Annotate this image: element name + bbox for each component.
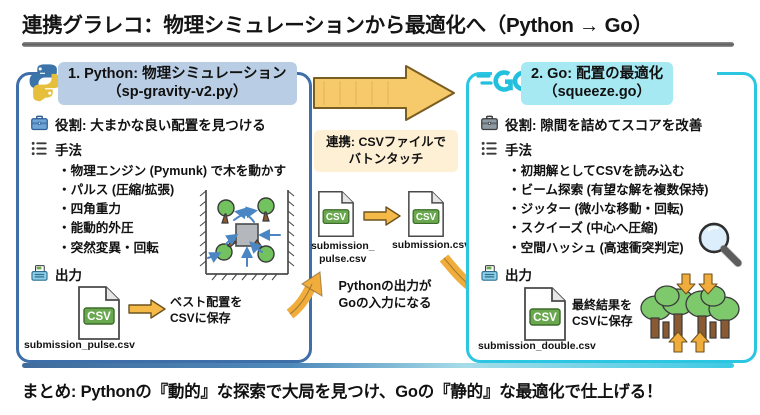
python-output-filename: submission_pulse.csv — [24, 340, 135, 351]
go-role-label: 役割: 隙間を詰めてスコアを改善 — [505, 114, 702, 134]
python-method-row: 手法 — [30, 139, 82, 159]
go-header-line2: （squeeze.go） — [531, 83, 663, 101]
list-item: ・初期解としてCSVを読み込む — [508, 162, 708, 181]
list-icon — [30, 139, 49, 158]
python-save-arrow-icon — [128, 298, 166, 320]
list-item: ・空間ハッシュ (高速衝突判定) — [508, 239, 708, 258]
python-csv-file-icon: CSV — [76, 285, 122, 341]
python-header-line1: 1. Python: 物理シミュレーション — [68, 65, 287, 83]
footer-divider — [22, 363, 734, 368]
list-item: ・物理エンジン (Pymunk) で木を動かす — [58, 162, 286, 181]
svg-text:CSV: CSV — [326, 212, 347, 223]
go-method-label: 手法 — [505, 139, 532, 159]
python-save-caption: ベスト配置を CSVに保存 — [170, 294, 242, 326]
title-area: 連携グラレコ：物理シミュレーションから最適化へ（Python → Go） — [0, 4, 760, 48]
python-output-row: 出力 — [30, 264, 82, 284]
svg-text:CSV: CSV — [87, 311, 111, 323]
go-output-filename: submission_double.csv — [478, 341, 596, 352]
python-panel-header: 1. Python: 物理シミュレーション （sp-gravity-v2.py） — [58, 62, 297, 105]
list-item: ・スクイーズ (中心へ圧縮) — [508, 219, 708, 238]
python-method-label: 手法 — [55, 139, 82, 159]
summary-text: まとめ: Pythonの『動的』な探索で大局を見つけ、Goの『静的』な最適化で仕… — [22, 378, 747, 402]
big-right-arrow-icon — [310, 62, 458, 124]
go-panel-header: 2. Go: 配置の最適化 （squeeze.go） — [521, 62, 673, 105]
printer-icon — [480, 264, 499, 283]
handoff-label-line1: 連携: CSVファイルで — [316, 134, 456, 151]
go-save-caption: 最終結果を CSVに保存 — [572, 297, 633, 329]
magnifying-glass-icon — [694, 220, 744, 268]
python-output-label: 出力 — [55, 264, 82, 284]
handoff-label-line2: バトンタッチ — [316, 151, 456, 168]
handoff-label: 連携: CSVファイルで バトンタッチ — [314, 130, 458, 172]
packed-trees-illustration — [638, 272, 744, 356]
briefcase-icon — [30, 114, 49, 133]
list-item: ・ビーム探索 (有望な解を複数保持) — [508, 181, 708, 200]
printer-icon — [30, 264, 49, 283]
go-method-bullets: ・初期解としてCSVを読み込む ・ビーム探索 (有望な解を複数保持) ・ジッター… — [508, 162, 708, 258]
python-role-row: 役割: 大まかな良い配置を見つける — [30, 114, 266, 134]
briefcase-icon — [480, 114, 499, 133]
center-csv-source-name-line1: submission_ — [311, 240, 375, 253]
go-role-row: 役割: 隙間を詰めてスコアを改善 — [480, 114, 702, 134]
title-underline — [22, 42, 734, 47]
infographic-canvas: 連携グラレコ：物理シミュレーションから最適化へ（Python → Go） 1. … — [0, 0, 760, 415]
go-save-caption-line2: CSVに保存 — [572, 313, 633, 329]
center-csv-target-icon: CSV — [406, 190, 446, 238]
page-title: 連携グラレコ：物理シミュレーションから最適化へ（Python → Go） — [22, 8, 742, 38]
go-output-row: 出力 — [480, 264, 532, 284]
svg-text:CSV: CSV — [416, 212, 437, 223]
go-csv-file-icon: CSV — [522, 286, 568, 342]
list-item: ・ジッター (微小な移動・回転) — [508, 200, 708, 219]
go-method-row: 手法 — [480, 139, 532, 159]
go-output-label: 出力 — [505, 264, 532, 284]
left-to-center-curved-arrow-icon — [286, 256, 342, 318]
python-save-caption-line2: CSVに保存 — [170, 310, 242, 326]
go-save-caption-line1: 最終結果を — [572, 297, 633, 313]
center-csv-target-name: submission.csv — [392, 240, 470, 251]
list-icon — [480, 139, 499, 158]
python-role-label: 役割: 大まかな良い配置を見つける — [55, 114, 266, 134]
python-save-caption-line1: ベスト配置を — [170, 294, 242, 310]
center-transfer-arrow-icon — [362, 205, 402, 227]
python-header-line2: （sp-gravity-v2.py） — [68, 83, 287, 101]
go-header-line1: 2. Go: 配置の最適化 — [531, 65, 663, 83]
svg-text:CSV: CSV — [533, 312, 557, 324]
center-csv-source-icon: CSV — [316, 190, 356, 238]
